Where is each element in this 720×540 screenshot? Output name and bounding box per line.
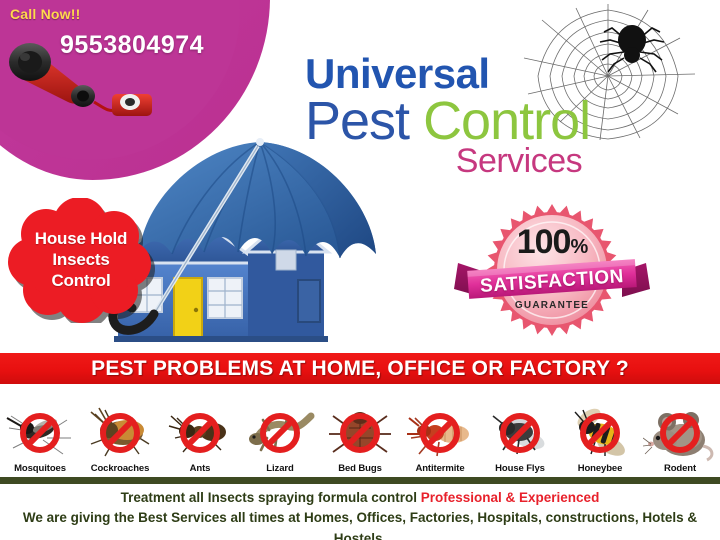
olive-divider bbox=[0, 477, 720, 484]
pest-item-honeybee[interactable]: Honeybee bbox=[560, 390, 640, 476]
pest-types-strip: Mosquitoes Cockroache bbox=[0, 390, 720, 476]
housefly-icon bbox=[483, 404, 557, 462]
badge-percent-value: 100 bbox=[517, 223, 571, 261]
rodent-mouse-icon bbox=[643, 404, 717, 462]
pest-item-rodent[interactable]: Rodent bbox=[640, 390, 720, 476]
prohibition-sign-icon bbox=[180, 413, 220, 453]
prohibition-sign-icon bbox=[420, 413, 460, 453]
ant-icon bbox=[163, 404, 237, 462]
footer-line-1: Treatment all Insects spraying formula c… bbox=[0, 488, 720, 508]
phone-number[interactable]: 9553804974 bbox=[60, 31, 204, 60]
callout-text: House Hold Insects Control bbox=[6, 198, 156, 323]
footer-line-1-plain: Treatment all Insects spraying formula c… bbox=[121, 490, 421, 505]
callout-line-1: House Hold bbox=[35, 229, 127, 250]
footer-line-1-highlight: Professional & Experienced bbox=[421, 490, 600, 505]
bedbug-icon bbox=[323, 404, 397, 462]
call-now-label: Call Now!! bbox=[10, 6, 80, 22]
household-insects-callout: House Hold Insects Control bbox=[6, 198, 156, 323]
badge-percent: 100% bbox=[452, 223, 652, 262]
mosquito-icon bbox=[3, 404, 77, 462]
prohibition-sign-icon bbox=[20, 413, 60, 453]
poster-canvas: Call Now!! 9553804974 bbox=[0, 0, 720, 540]
callout-line-3: Control bbox=[51, 271, 110, 292]
pest-label: Cockroaches bbox=[91, 463, 150, 474]
pest-problems-banner: PEST PROBLEMS AT HOME, OFFICE OR FACTORY… bbox=[0, 352, 720, 385]
honeybee-icon bbox=[563, 404, 637, 462]
pest-label: House Flys bbox=[495, 463, 545, 474]
pest-label: Antitermite bbox=[415, 463, 464, 474]
prohibition-sign-icon bbox=[500, 413, 540, 453]
pest-item-ants[interactable]: Ants bbox=[160, 390, 240, 476]
badge-percent-symbol: % bbox=[570, 236, 587, 258]
title-line-pest-control: Pest Control bbox=[305, 94, 590, 148]
prohibition-sign-icon bbox=[260, 413, 300, 453]
footer-line-2: We are giving the Best Services all time… bbox=[0, 508, 720, 540]
pest-label: Lizard bbox=[266, 463, 293, 474]
lizard-icon bbox=[243, 404, 317, 462]
prohibition-sign-icon bbox=[660, 413, 700, 453]
pest-item-antitermite[interactable]: Antitermite bbox=[400, 390, 480, 476]
satisfaction-guarantee-seal: 100% SATISFACTION GUARANTEE bbox=[452, 203, 652, 338]
pest-item-mosquitoes[interactable]: Mosquitoes bbox=[0, 390, 80, 476]
footer-text: Treatment all Insects spraying formula c… bbox=[0, 488, 720, 540]
prohibition-sign-icon bbox=[100, 413, 140, 453]
pest-item-bed-bugs[interactable]: Bed Bugs bbox=[320, 390, 400, 476]
pest-label: Ants bbox=[190, 463, 211, 474]
title-word-pest: Pest bbox=[305, 91, 423, 151]
prohibition-sign-icon bbox=[580, 413, 620, 453]
pest-label: Honeybee bbox=[578, 463, 623, 474]
pest-label: Rodent bbox=[664, 463, 696, 474]
cockroach-icon bbox=[83, 404, 157, 462]
pest-label: Bed Bugs bbox=[338, 463, 382, 474]
pest-label: Mosquitoes bbox=[14, 463, 66, 474]
badge-sub-text: GUARANTEE bbox=[452, 300, 652, 311]
page-title: Universal Pest Control Services bbox=[305, 52, 590, 178]
pest-item-cockroaches[interactable]: Cockroaches bbox=[80, 390, 160, 476]
termite-icon bbox=[403, 404, 477, 462]
prohibition-sign-icon bbox=[340, 413, 380, 453]
title-line-universal: Universal bbox=[305, 52, 590, 96]
pest-item-lizard[interactable]: Lizard bbox=[240, 390, 320, 476]
banner-text: PEST PROBLEMS AT HOME, OFFICE OR FACTORY… bbox=[91, 357, 629, 381]
pest-item-house-flys[interactable]: House Flys bbox=[480, 390, 560, 476]
callout-line-2: Insects bbox=[52, 250, 109, 271]
